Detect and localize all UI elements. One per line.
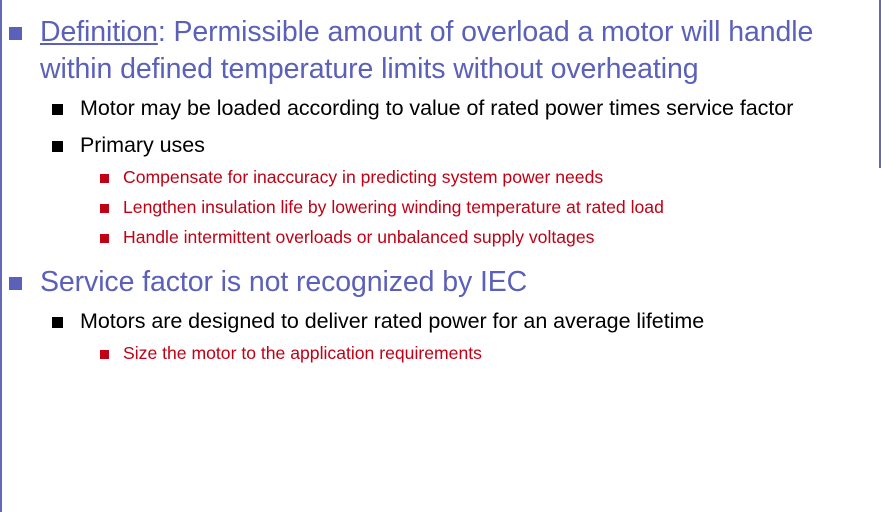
bullet-text: Definition: Permissible amount of overlo… [40, 14, 881, 88]
square-bullet-icon [9, 277, 22, 290]
bullet-item-level2: Motors are designed to deliver rated pow… [0, 307, 881, 335]
square-bullet-icon [100, 174, 109, 183]
bullet-text: Handle intermittent overloads or unbalan… [123, 225, 881, 249]
square-bullet-icon [52, 141, 63, 152]
bullet-item-level3: Handle intermittent overloads or unbalan… [0, 225, 881, 249]
slide-body-content: Definition: Permissible amount of overlo… [0, 0, 881, 368]
bullet-item-level1: Service factor is not recognized by IEC [0, 264, 881, 301]
bullet-item-level2: Primary uses [0, 131, 881, 159]
bullet-text: Motor may be loaded according to value o… [80, 94, 881, 122]
bullet-text: Primary uses [80, 131, 881, 159]
bullet-text: Size the motor to the application requir… [123, 341, 881, 365]
bullet-text: Service factor is not recognized by IEC [40, 264, 881, 301]
bullet-item-level3: Compensate for inaccuracy in predicting … [0, 165, 881, 189]
presentation-slide: Definition: Permissible amount of overlo… [0, 0, 881, 512]
square-bullet-icon [52, 317, 63, 328]
bullet-text: Lengthen insulation life by lowering win… [123, 195, 881, 219]
square-bullet-icon [100, 234, 109, 243]
bullet-item-level3: Size the motor to the application requir… [0, 341, 881, 365]
defined-term: Definition [40, 16, 158, 48]
bullet-item-level2: Motor may be loaded according to value o… [0, 94, 881, 122]
bullet-text: Motors are designed to deliver rated pow… [80, 307, 881, 335]
square-bullet-icon [100, 350, 109, 359]
bullet-item-level3: Lengthen insulation life by lowering win… [0, 195, 881, 219]
square-bullet-icon [52, 104, 63, 115]
square-bullet-icon [100, 204, 109, 213]
bullet-text: Compensate for inaccuracy in predicting … [123, 165, 881, 189]
square-bullet-icon [9, 27, 22, 40]
bullet-item-level1: Definition: Permissible amount of overlo… [0, 14, 881, 88]
